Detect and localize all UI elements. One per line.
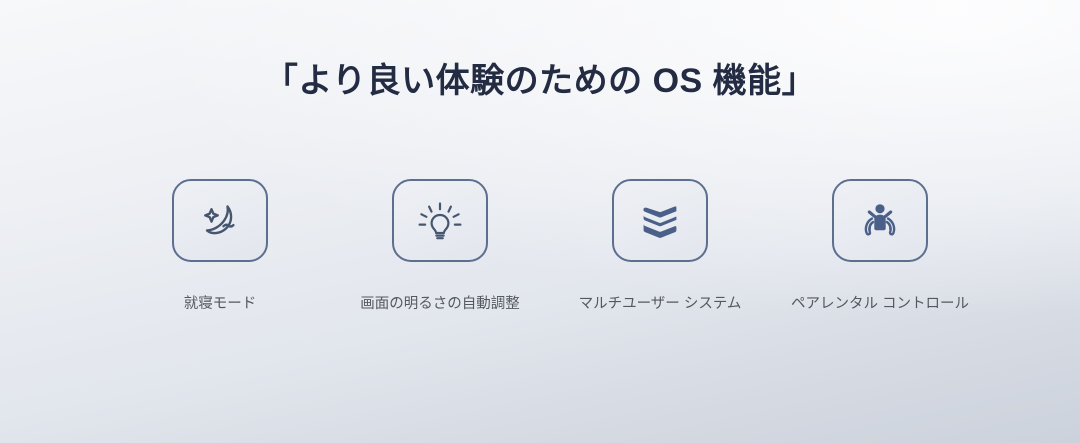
feature-list: 就寝モード (110, 179, 990, 314)
icon-card-bedtime-mode[interactable] (172, 179, 268, 262)
feature-label-multi-user: マルチユーザー システム (579, 295, 742, 314)
feature-item-parental-control[interactable]: ペアレンタル コントロール (770, 179, 990, 314)
feature-item-auto-brightness[interactable]: 画面の明るさの自動調整 (330, 179, 550, 314)
lightbulb-rays-icon (414, 195, 466, 247)
icon-card-multi-user[interactable] (612, 179, 708, 262)
moon-sparkle-icon (194, 195, 246, 247)
page-title: 「より良い体験のための OS 機能」 (0, 60, 1080, 103)
icon-card-parental-control[interactable] (832, 179, 928, 262)
icon-card-auto-brightness[interactable] (392, 179, 488, 262)
feature-item-multi-user[interactable]: マルチユーザー システム (550, 179, 770, 314)
book-stack-icon (633, 194, 687, 248)
hands-child-icon (854, 195, 906, 247)
feature-item-bedtime-mode[interactable]: 就寝モード (110, 179, 330, 314)
slide-canvas: 「より良い体験のための OS 機能」 就寝モード (0, 0, 1080, 443)
feature-label-auto-brightness: 画面の明るさの自動調整 (360, 295, 520, 314)
feature-label-bedtime-mode: 就寝モード (184, 295, 257, 314)
feature-label-parental-control: ペアレンタル コントロール (791, 295, 969, 314)
